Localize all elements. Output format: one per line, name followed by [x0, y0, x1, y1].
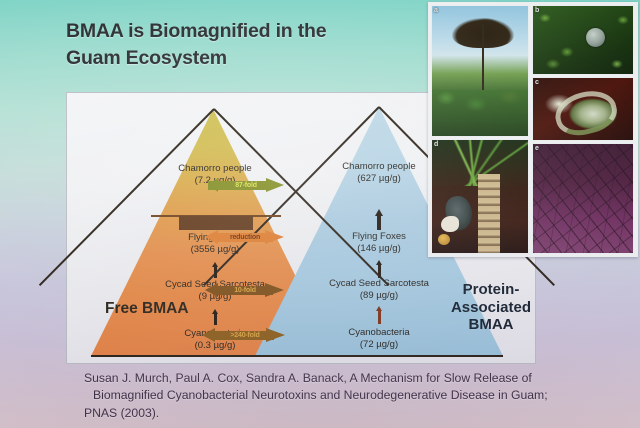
tier-divider-band: [179, 216, 253, 230]
right-tier-cycad-sarcotesta-name: Cycad Seed Sarcotesta: [305, 278, 453, 290]
connector-240-fold-label: >240-fold: [202, 331, 288, 341]
photo-collage: a b c d e: [428, 2, 638, 257]
slide-title: BMAA is Biomagnified in the Guam Ecosyst…: [66, 18, 426, 71]
photo-label-a: a: [434, 7, 438, 14]
cycad-seed-shape: [438, 234, 450, 245]
right-tier-cyanobacteria-value: (72 µg/g): [315, 339, 443, 351]
right-tier-cyanobacteria: Cyanobacteria (72 µg/g): [315, 327, 443, 350]
photo-lichen-microscopy: c: [532, 77, 634, 141]
right-tier-cycad-sarcotesta: Cycad Seed Sarcotesta (89 µg/g): [305, 278, 453, 301]
connector-reduction: reduction: [205, 230, 285, 245]
left-arrow-cyano-to-sarcotesta: [212, 309, 218, 325]
photo-cycad-tree-sky: a: [431, 5, 529, 137]
foliage-shape: [432, 90, 528, 137]
slide-title-line-2: Guam Ecosystem: [66, 45, 426, 72]
photo-label-b: b: [535, 7, 539, 14]
right-tier-chamorro: Chamorro people (627 µg/g): [331, 161, 427, 184]
lichen-swirl-shape: [551, 85, 621, 141]
free-bmaa-label: Free BMAA: [105, 300, 189, 318]
connector-reduction-label: reduction: [205, 233, 285, 243]
right-arrow-sarcotesta-to-foxes: [376, 260, 382, 278]
photo-label-e: e: [535, 145, 539, 152]
flying-fox-wing-shape: [441, 216, 459, 232]
protein-label-line-1: Protein-: [449, 281, 533, 299]
right-arrow-cyano-to-sarcotesta: [376, 306, 382, 325]
neural-fiber-texture: [533, 144, 633, 253]
right-tier-flying-foxes-value: (146 µg/g): [329, 243, 429, 255]
slide-title-line-1: BMAA is Biomagnified in the: [66, 18, 426, 45]
right-tier-flying-foxes: Flying Foxes (146 µg/g): [329, 231, 429, 254]
photo-label-d: d: [434, 141, 438, 148]
photo-label-c: c: [535, 79, 539, 86]
citation-line-3: PNAS (2003).: [84, 405, 604, 422]
right-tier-cyanobacteria-name: Cyanobacteria: [315, 327, 443, 339]
coin-shape: [586, 28, 605, 47]
left-tier-chamorro-name: Chamorro people: [167, 163, 263, 175]
right-tier-cycad-sarcotesta-value: (89 µg/g): [305, 290, 453, 302]
connector-10-fold-label: 10-fold: [205, 286, 285, 296]
protein-label-line-2: Associated: [449, 299, 533, 317]
slide-citation: Susan J. Murch, Paul A. Cox, Sandra A. B…: [84, 370, 604, 422]
connector-87-fold-label: 87-fold: [208, 181, 284, 191]
pyramid-right-base: [255, 355, 503, 357]
citation-line-1: Susan J. Murch, Paul A. Cox, Sandra A. B…: [84, 370, 604, 387]
connector-87-fold: 87-fold: [208, 178, 284, 193]
right-tier-chamorro-value: (627 µg/g): [331, 173, 427, 185]
protein-associated-bmaa-label: Protein- Associated BMAA: [449, 281, 533, 334]
left-arrow-sarcotesta-to-foxes: [212, 262, 218, 278]
connector-10-fold: 10-fold: [205, 283, 285, 298]
cycad-trunk-texture: [478, 174, 500, 254]
right-tier-chamorro-name: Chamorro people: [331, 161, 427, 173]
connector-240-fold: >240-fold: [202, 328, 288, 343]
right-arrow-foxes-to-chamorro: [376, 209, 382, 229]
right-tier-flying-foxes-name: Flying Foxes: [329, 231, 429, 243]
left-tier-flying-foxes-value: (3556 µg/g): [165, 244, 265, 256]
protein-label-line-3: BMAA: [449, 316, 533, 334]
photo-coin-on-moss: b: [532, 5, 634, 75]
photo-neural-tissue-microscopy: e: [532, 143, 634, 254]
photo-flying-fox-on-cycad: d: [431, 139, 529, 254]
citation-line-2: Biomagnified Cyanobacterial Neurotoxins …: [84, 387, 604, 404]
